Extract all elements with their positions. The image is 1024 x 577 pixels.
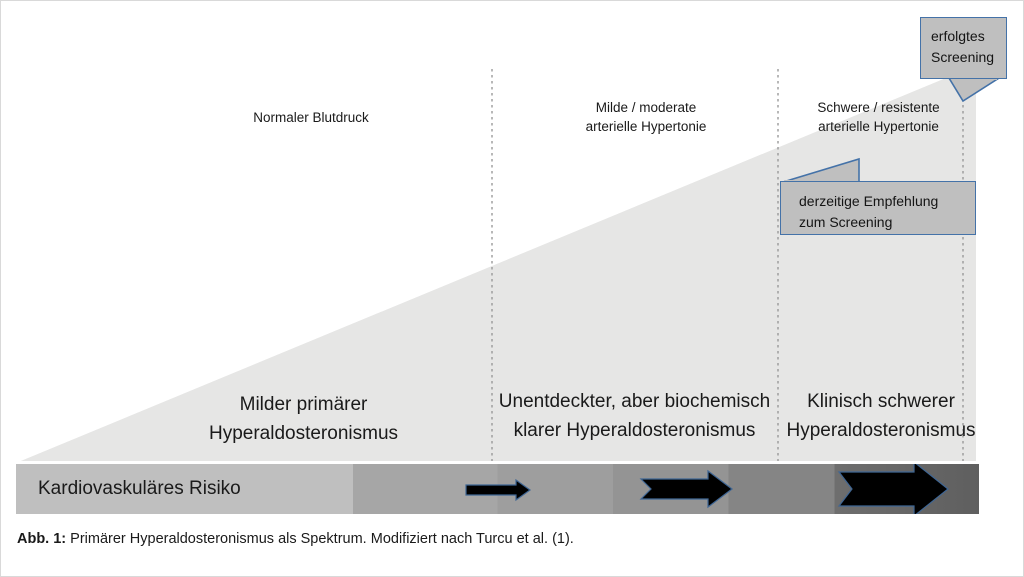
- diagram-canvas: Normaler Blutdruck Milde / moderate arte…: [1, 1, 1023, 519]
- caption-prefix: Abb. 1:: [17, 531, 66, 547]
- caption-text: Primärer Hyperaldosteronismus als Spektr…: [66, 531, 574, 547]
- risk-arrow-large-icon: [839, 464, 948, 514]
- band-label-severe-resistant-hypertension: Schwere / resistente arterielle Hyperton…: [776, 98, 981, 136]
- spectrum-label-mild-primary-aldosteronism: Milder primärer Hyperaldosteronismus: [156, 390, 451, 448]
- cardiovascular-risk-bar: Kardiovaskuläres Risiko: [16, 464, 979, 514]
- risk-arrows-svg: [16, 464, 979, 514]
- band-label-normal-blood-pressure: Normaler Blutdruck: [196, 108, 426, 127]
- figure-caption: Abb. 1: Primärer Hyperaldosteronismus al…: [17, 529, 1007, 549]
- spectrum-label-clinically-severe-aldosteronism: Klinisch schwerer Hyperaldosteronismus: [783, 387, 979, 445]
- callout-screening-done: erfolgtes Screening: [920, 17, 1007, 79]
- figure-container: Normaler Blutdruck Milde / moderate arte…: [0, 0, 1024, 577]
- spectrum-label-undetected-biochemical-aldosteronism: Unentdeckter, aber biochemisch klarer Hy…: [485, 387, 784, 445]
- risk-arrow-medium-icon: [641, 471, 732, 507]
- band-label-mild-moderate-hypertension: Milde / moderate arterielle Hypertonie: [531, 98, 761, 136]
- callout-current-recommendation: derzeitige Empfehlung zum Screening: [780, 181, 976, 235]
- risk-arrow-small-icon: [466, 480, 530, 500]
